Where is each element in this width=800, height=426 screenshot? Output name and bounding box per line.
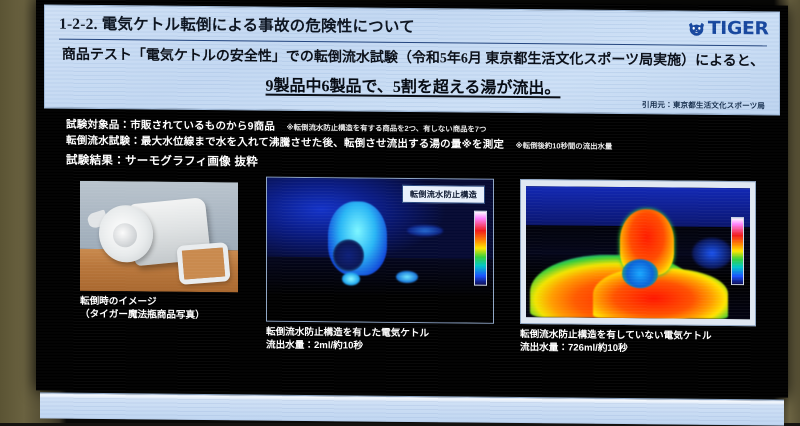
thermal-image-without-protection [520,179,756,326]
slide-body: 試験対象品：市販されているものから9商品 ※転倒流水防止構造を有する商品を2つ、… [44,110,780,389]
figure-thermal-with-protection: 転倒流水防止構造 転倒流水防止構造を有した電気ケトル 流出水量：2ml/約10秒 [266,177,496,355]
next-slide-preview-band [40,392,784,425]
figure-thermal-without-protection: 転倒流水防止構造を有していない電気ケトル 流出水量：726ml/約10秒 [520,179,758,357]
thermal-kettle-lid [622,259,658,288]
caption-line-2: 流出水量：726ml/約10秒 [520,342,758,357]
lead-line-1: 商品テスト「電気ケトルの安全性」での転倒流水試験（令和5年6月 東京都生活文化ス… [59,47,767,71]
test-method-line: 転倒流水試験：最大水位線まで水を入れて沸騰させた後、転倒させ流出する湯の量※を測… [66,131,612,154]
kettle-handle [176,242,230,284]
projection-room-background: 1-2-2. 電気ケトル転倒による事故の危険性について TIGER 商品テスト「… [0,0,800,423]
status-badge: 転倒流水防止構造 [402,185,485,204]
presentation-slide: 1-2-2. 電気ケトル転倒による事故の危険性について TIGER 商品テスト「… [36,0,788,398]
thermal-color-scale [474,211,487,285]
thermal-inner [526,186,750,319]
product-photo-image [80,181,238,293]
kettle-handle-opening [182,247,225,279]
tiger-head-icon [687,21,706,36]
thermal-image-with-protection: 転倒流水防止構造 [266,177,494,324]
tiger-logo: TIGER [687,20,767,39]
caption-line-2: （タイガー魔法瓶商品写真） [80,309,238,323]
figure-product-photo: 転倒時のイメージ （タイガー魔法瓶商品写真） [80,181,238,323]
page-title: 1-2-2. 電気ケトル転倒による事故の危険性について [59,12,415,37]
thermal-cool-region [692,237,732,269]
test-method-note: ※転倒後約10秒間の流出水量 [516,141,613,151]
thermal-hot-spill-area-secondary [593,268,727,319]
result-heading: 試験結果：サーモグラフィ画像 抜粋 [66,152,258,170]
thermal-kettle-lid [333,240,365,272]
product-photo-caption: 転倒時のイメージ （タイガー魔法瓶商品写真） [80,296,238,323]
kettle-lid-knob [113,223,137,247]
lead-statement: 商品テスト「電気ケトルの安全性」での転倒流水試験（令和5年6月 東京都生活文化ス… [59,47,767,100]
figure-row: 転倒時のイメージ （タイガー魔法瓶商品写真） [44,174,780,381]
test-method-label: 転倒流水試験：最大水位線まで水を入れて沸騰させた後、転倒させ流出する湯の量※を測… [66,135,504,151]
citation-source: 引用元：東京都生活文化スポーツ局 [642,99,765,111]
thermal-with-protection-caption: 転倒流水防止構造を有した電気ケトル 流出水量：2ml/約10秒 [266,327,496,355]
logo-text: TIGER [707,20,768,39]
test-subject-note: ※転倒流水防止構造を有する商品を2つ、有しない商品を7つ [286,123,486,134]
title-row: 1-2-2. 電気ケトル転倒による事故の危険性について TIGER [59,10,767,43]
slide-header: 1-2-2. 電気ケトル転倒による事故の危険性について TIGER 商品テスト「… [44,4,780,115]
thermal-without-protection-caption: 転倒流水防止構造を有していない電気ケトル 流出水量：726ml/約10秒 [520,329,758,357]
lead-line-2: 9製品中6製品で、5割を超える湯が流出。 [266,71,561,98]
thermal-spill-spot [342,273,360,286]
thermal-color-scale [731,217,744,285]
caption-line-2: 流出水量：2ml/約10秒 [266,340,496,355]
